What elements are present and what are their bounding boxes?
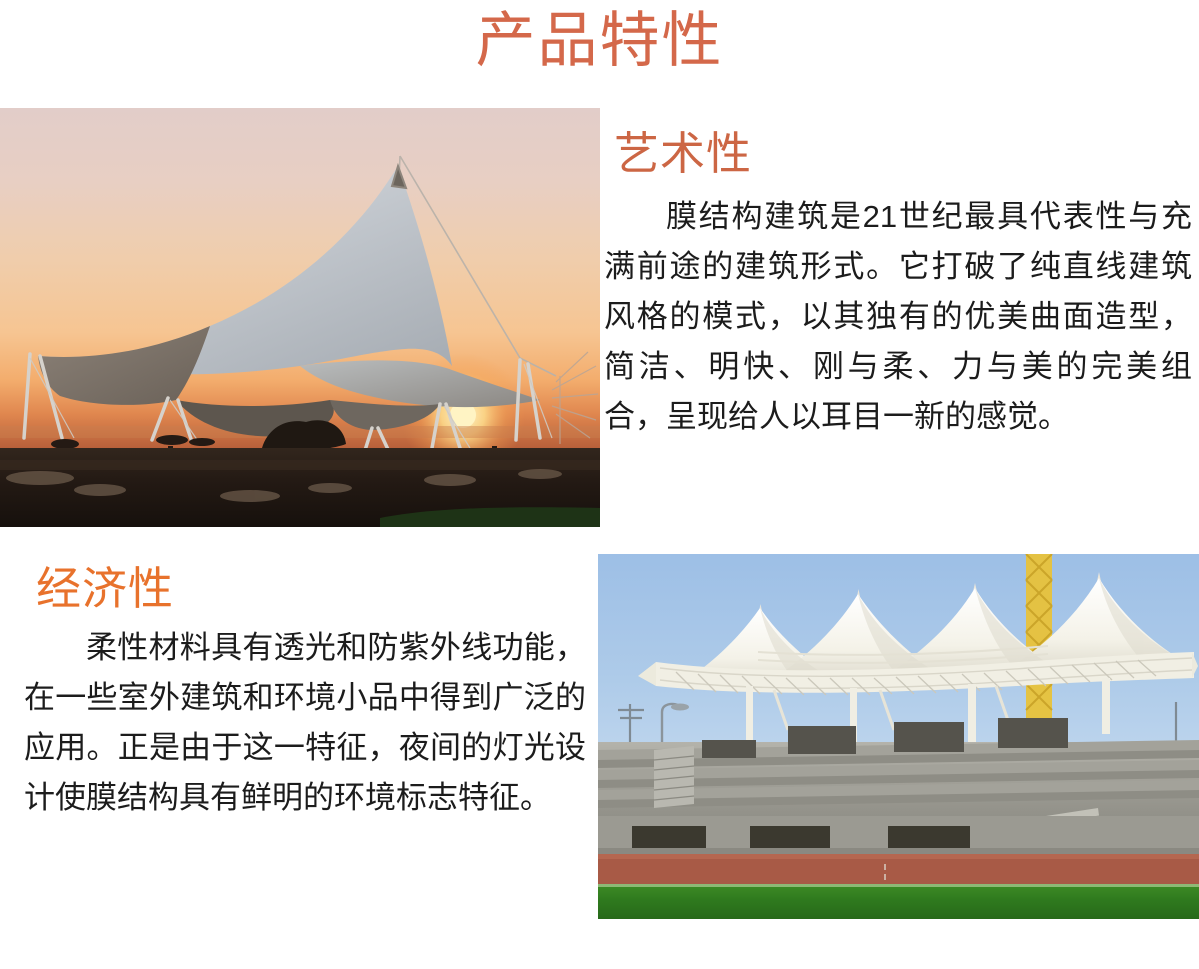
stadium-grandstand-canopy-photo — [598, 554, 1199, 919]
sunset-membrane-structure-illustration — [0, 108, 600, 527]
section-heading-artistry: 艺术性 — [614, 128, 752, 180]
stadium-grandstand-canopy-illustration — [598, 554, 1199, 919]
section-body-economy: 柔性材料具有透光和防紫外线功能，在一些室外建筑和环境小品中得到广泛的应用。正是由… — [24, 623, 586, 823]
section-body-artistry: 膜结构建筑是21世纪最具代表性与充满前途的建筑形式。它打破了纯直线建筑风格的模式… — [604, 192, 1192, 442]
product-features-page: 产品特性 — [0, 0, 1199, 969]
page-title: 产品特性 — [0, 6, 1199, 76]
section-heading-economy: 经济性 — [36, 563, 174, 615]
sunset-membrane-structure-photo — [0, 108, 600, 527]
